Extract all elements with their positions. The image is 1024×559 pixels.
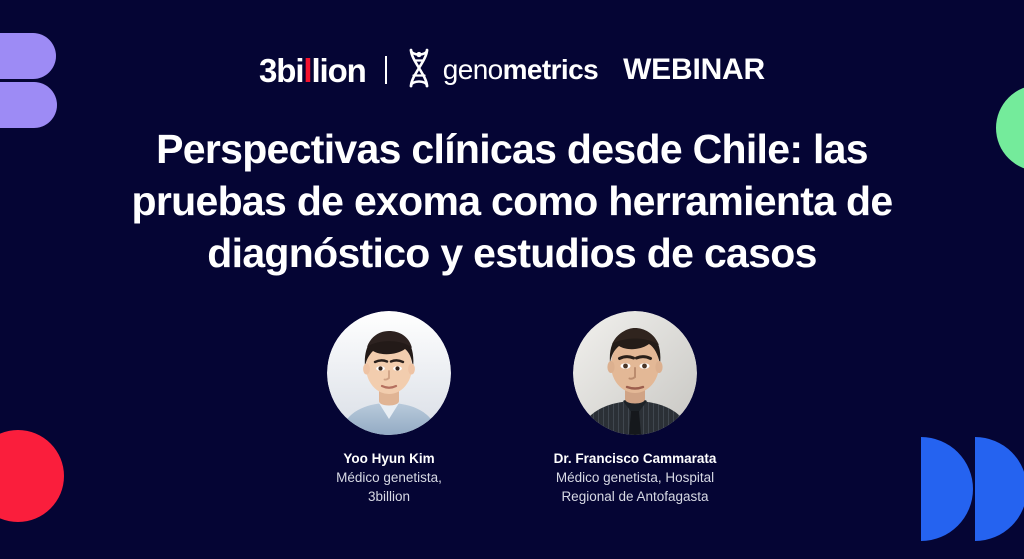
speaker-photo-francisco-cammarata [573, 311, 697, 435]
webinar-title-line-2: pruebas de exoma como herramienta de [72, 175, 952, 227]
brand-bar: 3billion genometrics WEBINAR [259, 49, 765, 91]
speaker-role: Médico genetista, 3billion [289, 469, 489, 505]
speaker-photo-yoo-hyun-kim [327, 311, 451, 435]
webinar-title-line-1: Perspectivas clínicas desde Chile: las [72, 123, 952, 175]
logo-3billion: 3billion [259, 54, 366, 87]
webinar-title-line-3: diagnóstico y estudios de casos [72, 227, 952, 279]
speaker-card: Dr. Francisco Cammarata Médico genetista… [540, 311, 730, 506]
speaker-role-line-1: Médico genetista, [336, 470, 442, 485]
dna-helix-icon [404, 48, 434, 93]
logo-genometrics-group: genometrics [404, 48, 598, 93]
webinar-title: Perspectivas clínicas desde Chile: las p… [72, 123, 952, 279]
speaker-role: Médico genetista, Hospital Regional de A… [535, 469, 735, 505]
logo-3billion-before: 3bi [259, 52, 303, 89]
speaker-role-line-2: Regional de Antofagasta [561, 489, 708, 504]
speaker-name: Yoo Hyun Kim [343, 450, 434, 468]
speaker-card: Yoo Hyun Kim Médico genetista, 3billion [294, 311, 484, 506]
webinar-label: WEBINAR [623, 55, 765, 85]
logo-genometrics: genometrics [443, 56, 598, 84]
webinar-banner: 3billion genometrics WEBINAR Perspectiva… [0, 0, 1024, 559]
speaker-list: Yoo Hyun Kim Médico genetista, 3billion [294, 311, 730, 506]
logo-genometrics-geno: geno [443, 54, 503, 85]
speaker-name: Dr. Francisco Cammarata [554, 450, 717, 468]
brand-divider [385, 56, 387, 84]
speaker-role-line-2: 3billion [368, 489, 410, 504]
logo-genometrics-metrics: metrics [503, 54, 598, 85]
logo-3billion-after: lion [311, 52, 365, 89]
speaker-role-line-1: Médico genetista, Hospital [556, 470, 714, 485]
